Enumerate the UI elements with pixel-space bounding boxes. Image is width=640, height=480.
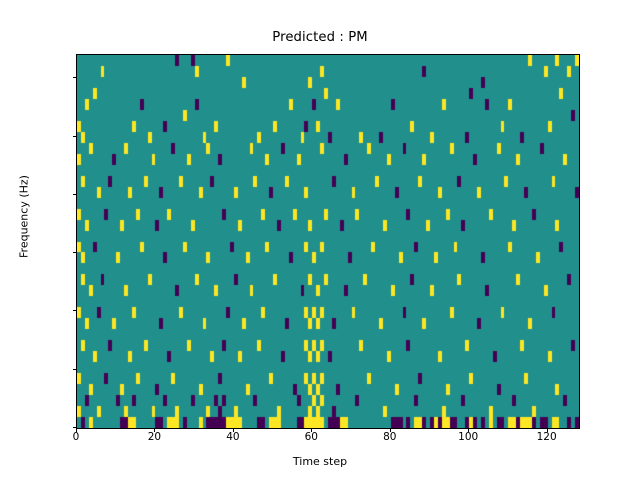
x-tick-label: 40 <box>226 431 239 443</box>
x-tick-label: 0 <box>73 431 80 443</box>
heatmap-plot-area <box>76 54 580 429</box>
x-tick-mark <box>154 429 155 433</box>
chart-title: Predicted : PM <box>0 30 640 45</box>
x-tick-label: 80 <box>383 431 396 443</box>
x-tick-label: 120 <box>537 431 557 443</box>
x-tick-mark <box>390 429 391 433</box>
heatmap-canvas <box>77 55 579 428</box>
x-tick-mark <box>233 429 234 433</box>
matplotlib-figure: Predicted : PM Frequency (Hz) Time step … <box>0 0 640 480</box>
x-tick-label: 100 <box>458 431 478 443</box>
x-tick-mark <box>468 429 469 433</box>
x-tick-label: 60 <box>305 431 318 443</box>
x-tick-mark <box>311 429 312 433</box>
x-tick-label: 20 <box>148 431 161 443</box>
x-tick-mark <box>547 429 548 433</box>
x-tick-mark <box>76 429 77 433</box>
x-axis-label: Time step <box>0 455 640 468</box>
y-axis-label: Frequency (Hz) <box>18 97 31 337</box>
